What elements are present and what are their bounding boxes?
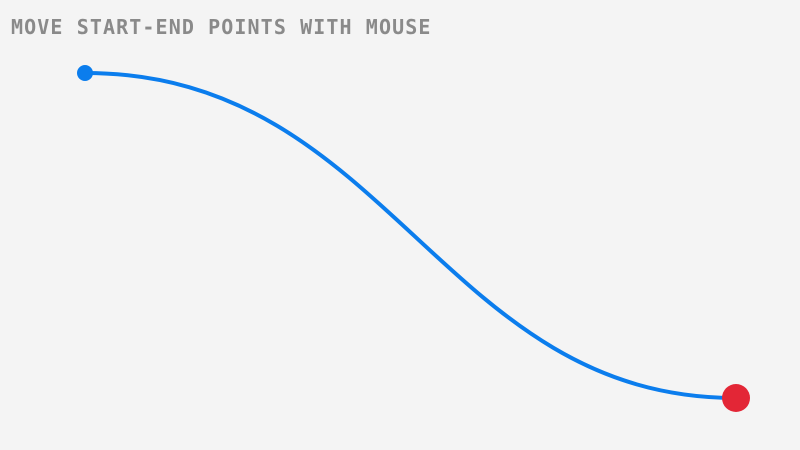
curve-layer bbox=[0, 0, 800, 450]
app-root: MOVE START-END POINTS WITH MOUSE bbox=[0, 0, 800, 450]
bezier-curve-path bbox=[85, 73, 736, 398]
bezier-canvas-stage[interactable]: MOVE START-END POINTS WITH MOUSE bbox=[0, 0, 800, 450]
page-title: MOVE START-END POINTS WITH MOUSE bbox=[11, 14, 432, 40]
start-point-handle[interactable] bbox=[77, 65, 93, 81]
end-point-handle[interactable] bbox=[722, 384, 750, 412]
